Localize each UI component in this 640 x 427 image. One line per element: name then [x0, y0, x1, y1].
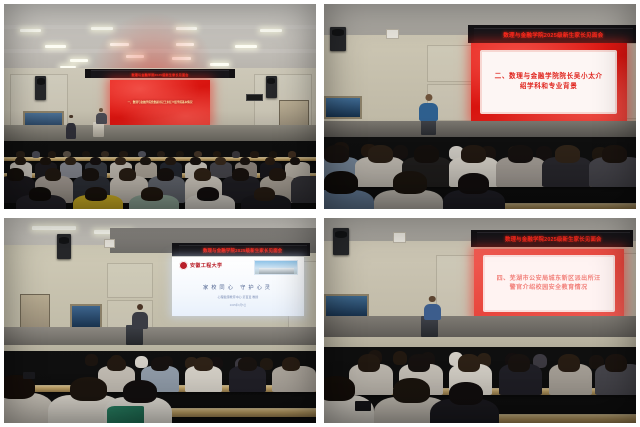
presenter: [96, 108, 107, 124]
wall-speaker-icon: [57, 234, 71, 259]
projection-screen: 一、数理与金融学院党委副书记王永红介绍学院基本情况: [110, 80, 210, 125]
wall-speaker-icon: [333, 228, 349, 255]
wall-speaker-icon: [330, 27, 346, 52]
slide-card: 四、芜湖市公安局城东新区派出所汪警官介绍校园安全教育情况: [483, 255, 615, 312]
wall-picture: [324, 96, 362, 118]
university-logo: 安徽工程大学: [179, 261, 222, 270]
led-banner-text: 数理与金融学院2025级新生家长见面会: [505, 235, 602, 243]
lecture-hall-room: 数理与金融学院2025级新生家长见面会 安徽工程大学 家校同心 守护心灵 心理健…: [4, 218, 316, 423]
ceiling-light: [260, 29, 282, 32]
photo-bottom-right: 数理与金融学院2025级新生家长见面会 四、芜湖市公安局城东新区派出所汪警官介绍…: [324, 218, 636, 423]
presenter: [419, 94, 438, 121]
ceiling-light: [45, 45, 67, 48]
university-name: 安徽工程大学: [190, 262, 222, 269]
wall-speaker-icon: [266, 76, 277, 99]
led-banner-text: 数理与金融学院2025级新生家长见面会: [503, 31, 603, 39]
audience: [4, 131, 316, 209]
ceiling-light: [20, 29, 42, 32]
campus-photo: [254, 260, 298, 275]
led-banner: 数理与金融学院2025级新生家长见面会: [477, 232, 630, 244]
wall-clock: [246, 94, 264, 101]
audience: [4, 331, 316, 423]
led-banner-text: 数理与金融学院2025级新生家长见面会: [203, 248, 282, 254]
slide-text: 一、数理与金融学院党委副书记王永红介绍学院基本情况: [122, 101, 197, 105]
wall-socket: [386, 29, 399, 39]
photo-top-right: 数理与金融学院2025级新生家长见面会 二、数理与金融学院院长吴小太介绍学科和专…: [324, 4, 636, 209]
photo-top-left: 数理与金融学院2025级新生家长见面会 一、数理与金融学院党委副书记王永红介绍学…: [4, 4, 316, 209]
slide-text: 四、芜湖市公安局城东新区派出所汪警官介绍校园安全教育情况: [485, 275, 613, 292]
led-banner: 数理与金融学院2025级新生家长见面会: [474, 28, 633, 41]
phone-icon: [355, 401, 371, 411]
lecture-hall-room: 数理与金融学院2025级新生家长见面会 四、芜湖市公安局城东新区派出所汪警官介绍…: [324, 218, 636, 423]
photo-bottom-left: 数理与金融学院2025级新生家长见面会 安徽工程大学 家校同心 守护心灵 心理健…: [4, 218, 316, 423]
phone-icon: [23, 372, 35, 378]
presenter: [424, 296, 441, 321]
ceiling-light: [70, 59, 89, 62]
led-banner-text: 数理与金融学院2025级新生家长见面会: [131, 72, 188, 77]
slide-text: 二、数理与金融学院院长吴小太介绍学科和专业背景: [482, 72, 615, 91]
slide-date: 2025年9月5日: [172, 303, 303, 307]
wall-socket: [393, 232, 406, 242]
ceiling-light: [32, 226, 76, 230]
audience: [324, 123, 636, 209]
slide-subtitle: 心理健康教育中心 姜百爱 教授: [172, 295, 303, 299]
university-seal-icon: [179, 261, 188, 270]
slide-card: 二、数理与金融学院院长吴小太介绍学科和专业背景: [480, 50, 617, 114]
slide-title: 家校同心 守护心灵: [172, 284, 303, 291]
audience: [324, 325, 636, 423]
lecture-hall-room: 数理与金融学院2025级新生家长见面会 二、数理与金融学院院长吴小太介绍学科和专…: [324, 4, 636, 209]
wall-speaker-icon: [35, 76, 46, 101]
photo-collage: 数理与金融学院2025级新生家长见面会 一、数理与金融学院党委副书记王永红介绍学…: [0, 0, 640, 427]
led-banner: 数理与金融学院2025级新生家长见面会: [91, 70, 228, 78]
ceiling-light: [235, 45, 257, 48]
projection-screen: 四、芜湖市公安局城东新区派出所汪警官介绍校园安全教育情况: [474, 249, 624, 319]
projection-screen: 二、数理与金融学院院长吴小太介绍学科和专业背景: [471, 43, 627, 121]
presenter: [132, 304, 148, 329]
projection-screen: 安徽工程大学 家校同心 守护心灵 心理健康教育中心 姜百爱 教授 2025年9月…: [172, 257, 303, 316]
lecture-hall-room: 数理与金融学院2025级新生家长见面会 一、数理与金融学院党委副书记王永红介绍学…: [4, 4, 316, 209]
led-banner: 数理与金融学院2025级新生家长见面会: [179, 245, 307, 256]
wall-socket: [104, 239, 115, 248]
